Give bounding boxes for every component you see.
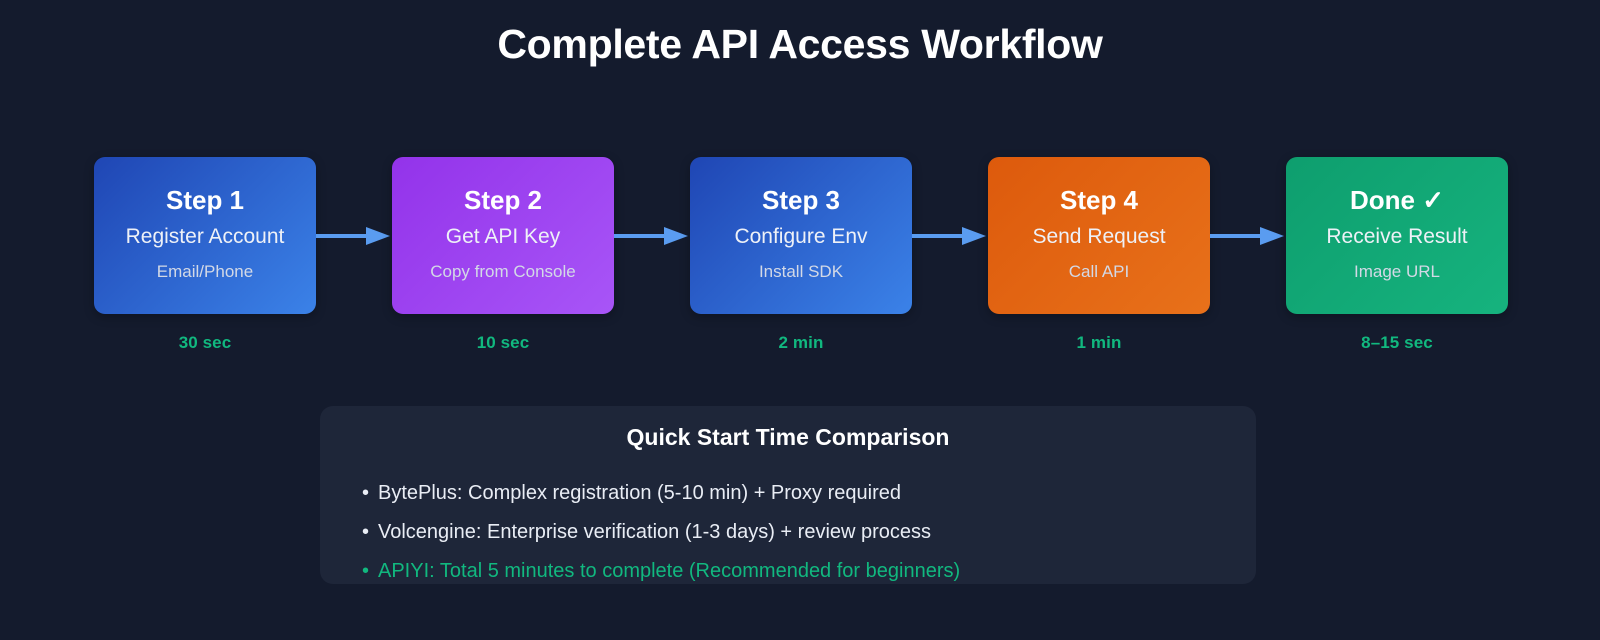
step-card-1[interactable]: Step 1Register AccountEmail/Phone — [94, 157, 316, 314]
step-card-detail: Image URL — [1354, 262, 1440, 282]
comparison-item-text: Volcengine: Enterprise verification (1-3… — [378, 521, 931, 543]
comparison-panel-title: Quick Start Time Comparison — [320, 424, 1256, 452]
step-duration-label: 1 min — [1077, 333, 1122, 353]
step-duration-label: 2 min — [779, 333, 824, 353]
step-card-title: Step 2 — [464, 185, 542, 216]
step-card-title: Step 4 — [1060, 185, 1138, 216]
step-group-2: Step 2Get API KeyCopy from Console10 sec — [392, 157, 614, 353]
step-card-subtitle: Configure Env — [734, 224, 867, 249]
step-group-3: Step 3Configure EnvInstall SDK2 min — [690, 157, 912, 353]
step-card-title: Done ✓ — [1350, 185, 1444, 216]
step-card-subtitle: Get API Key — [446, 224, 560, 249]
comparison-item-text: APIYI: Total 5 minutes to complete (Reco… — [378, 560, 960, 582]
step-duration-label: 8–15 sec — [1361, 333, 1433, 353]
step-card-5[interactable]: Done ✓Receive ResultImage URL — [1286, 157, 1508, 314]
step-card-subtitle: Send Request — [1032, 224, 1165, 249]
bullet-icon: • — [362, 474, 378, 513]
bullet-icon: • — [362, 513, 378, 552]
workflow-flow: Step 1Register AccountEmail/Phone30 secS… — [94, 157, 1506, 357]
step-card-title: Step 3 — [762, 185, 840, 216]
comparison-list-item: •BytePlus: Complex registration (5-10 mi… — [362, 474, 1256, 513]
step-duration-label: 10 sec — [477, 333, 530, 353]
step-card-detail: Email/Phone — [157, 262, 253, 282]
step-card-detail: Copy from Console — [430, 262, 576, 282]
step-card-3[interactable]: Step 3Configure EnvInstall SDK — [690, 157, 912, 314]
comparison-panel: Quick Start Time Comparison •BytePlus: C… — [320, 406, 1256, 584]
comparison-item-text: BytePlus: Complex registration (5-10 min… — [378, 482, 901, 504]
bullet-icon: • — [362, 552, 378, 591]
step-card-subtitle: Receive Result — [1326, 224, 1467, 249]
arrow-right-icon — [912, 157, 988, 314]
step-card-2[interactable]: Step 2Get API KeyCopy from Console — [392, 157, 614, 314]
step-group-4: Step 4Send RequestCall API1 min — [988, 157, 1210, 353]
comparison-list-item: •APIYI: Total 5 minutes to complete (Rec… — [362, 552, 1256, 591]
step-card-subtitle: Register Account — [126, 224, 285, 249]
arrow-right-icon — [614, 157, 690, 314]
step-card-detail: Install SDK — [759, 262, 843, 282]
step-card-title: Step 1 — [166, 185, 244, 216]
arrow-right-icon — [316, 157, 392, 314]
step-duration-label: 30 sec — [179, 333, 232, 353]
comparison-list: •BytePlus: Complex registration (5-10 mi… — [320, 474, 1256, 591]
comparison-list-item: •Volcengine: Enterprise verification (1-… — [362, 513, 1256, 552]
step-group-1: Step 1Register AccountEmail/Phone30 sec — [94, 157, 316, 353]
step-card-detail: Call API — [1069, 262, 1129, 282]
page-title: Complete API Access Workflow — [0, 20, 1600, 69]
arrow-right-icon — [1210, 157, 1286, 314]
step-card-4[interactable]: Step 4Send RequestCall API — [988, 157, 1210, 314]
step-group-5: Done ✓Receive ResultImage URL8–15 sec — [1286, 157, 1508, 353]
